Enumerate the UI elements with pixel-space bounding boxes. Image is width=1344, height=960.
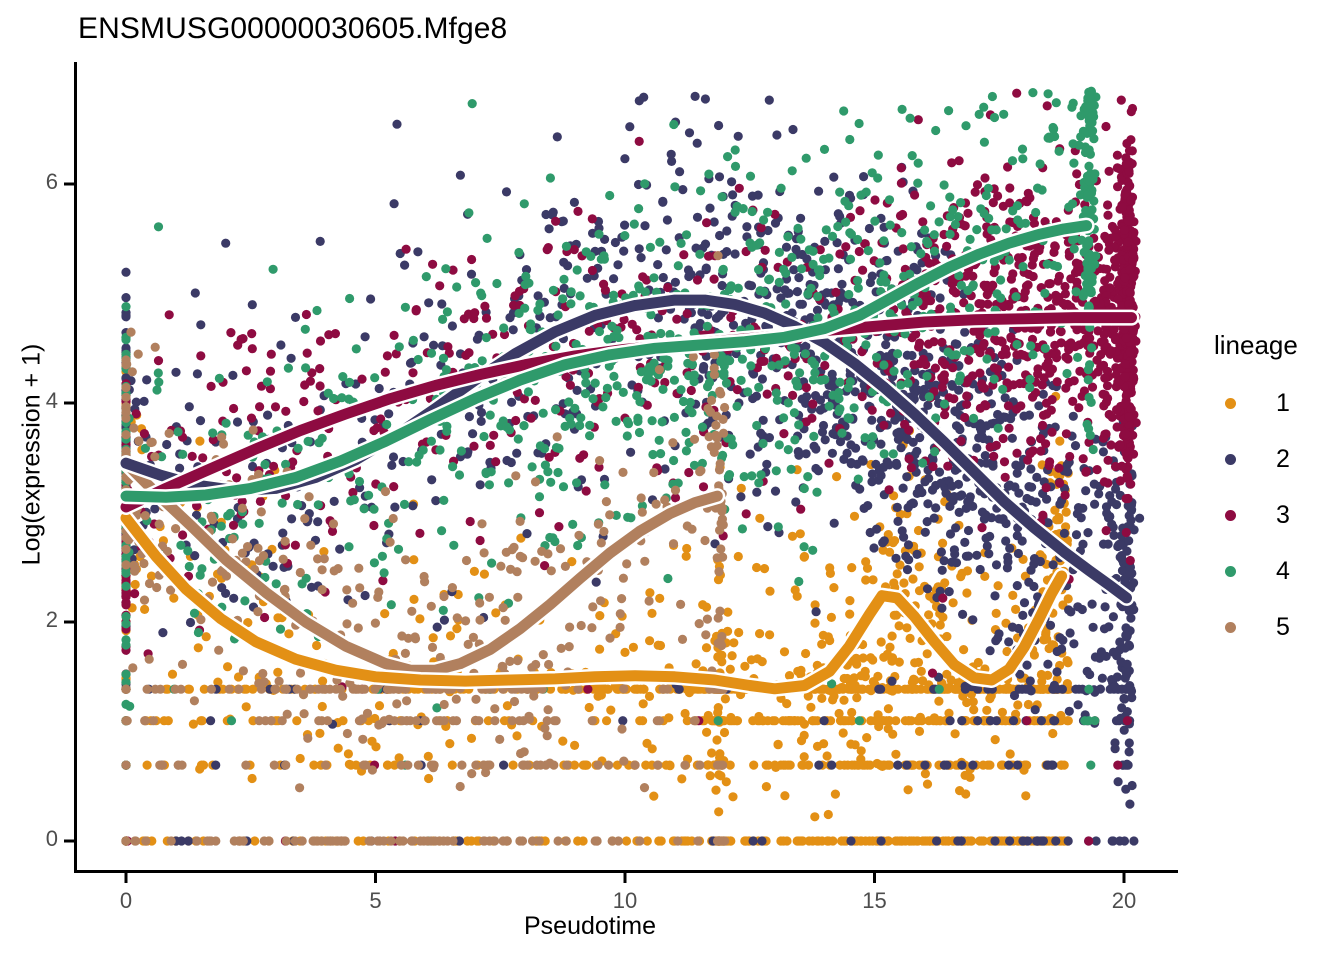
scatter-point	[381, 368, 390, 377]
scatter-point	[1099, 447, 1108, 456]
scatter-point	[238, 334, 247, 343]
scatter-point	[1099, 434, 1108, 443]
scatter-point	[248, 300, 257, 309]
scatter-point	[752, 563, 761, 572]
scatter-point	[865, 224, 874, 233]
scatter-point	[1012, 89, 1021, 98]
scatter-point	[413, 247, 422, 256]
scatter-point	[674, 261, 683, 270]
scatter-point	[367, 737, 376, 746]
scatter-point	[692, 659, 701, 668]
scatter-point	[142, 375, 151, 384]
scatter-point	[877, 471, 886, 480]
scatter-point	[1088, 600, 1097, 609]
scatter-point	[573, 836, 582, 845]
scatter-point	[1069, 159, 1078, 168]
scatter-point	[930, 247, 939, 256]
scatter-point	[1052, 515, 1061, 524]
scatter-point	[956, 437, 965, 446]
scatter-point	[979, 761, 988, 770]
scatter-point	[938, 539, 947, 548]
scatter-point	[793, 287, 802, 296]
scatter-point	[645, 692, 654, 701]
scatter-point	[360, 504, 369, 513]
scatter-point	[228, 371, 237, 380]
scatter-point	[931, 364, 940, 373]
scatter-point	[974, 658, 983, 667]
scatter-point	[162, 440, 171, 449]
scatter-point	[1102, 265, 1111, 274]
scatter-point	[747, 471, 756, 480]
scatter-point	[886, 409, 895, 418]
scatter-point	[579, 761, 588, 770]
scatter-point	[818, 836, 827, 845]
scatter-point	[946, 716, 955, 725]
scatter-point	[551, 405, 560, 414]
scatter-point	[315, 729, 324, 738]
scatter-point	[952, 558, 961, 567]
scatter-point	[366, 294, 375, 303]
scatter-point	[714, 575, 723, 584]
scatter-point	[1101, 122, 1110, 131]
scatter-point	[1091, 652, 1100, 661]
scatter-point	[965, 303, 974, 312]
scatter-point	[868, 406, 877, 415]
scatter-point	[771, 487, 780, 496]
scatter-point	[980, 339, 989, 348]
scatter-point	[885, 716, 894, 725]
scatter-point	[1055, 479, 1064, 488]
scatter-point	[899, 244, 908, 253]
scatter-point	[938, 566, 947, 575]
scatter-point	[802, 154, 811, 163]
scatter-point	[841, 242, 850, 251]
scatter-point	[1071, 441, 1080, 450]
scatter-point	[1001, 536, 1010, 545]
scatter-point	[215, 374, 224, 383]
scatter-point	[827, 761, 836, 770]
scatter-point	[808, 399, 817, 408]
scatter-point	[855, 119, 864, 128]
scatter-point	[936, 293, 945, 302]
scatter-point	[1118, 685, 1127, 694]
scatter-point	[852, 654, 861, 663]
scatter-point	[1112, 405, 1121, 414]
scatter-plot-canvas	[0, 0, 1344, 960]
scatter-point	[1117, 96, 1126, 105]
scatter-point	[1042, 409, 1051, 418]
scatter-point	[990, 591, 999, 600]
scatter-point	[658, 198, 667, 207]
scatter-point	[1061, 289, 1070, 298]
scatter-point	[765, 96, 774, 105]
scatter-point	[195, 437, 204, 446]
scatter-point	[435, 281, 444, 290]
scatter-point	[831, 288, 840, 297]
scatter-point	[623, 431, 632, 440]
scatter-point	[845, 610, 854, 619]
scatter-point	[1111, 335, 1120, 344]
scatter-point	[1126, 196, 1135, 205]
scatter-point	[1126, 516, 1135, 525]
scatter-point	[1100, 624, 1109, 633]
scatter-point	[437, 299, 446, 308]
scatter-point	[895, 621, 904, 630]
scatter-point	[121, 582, 130, 591]
scatter-point	[746, 450, 755, 459]
scatter-point	[878, 762, 887, 771]
scatter-point	[562, 242, 571, 251]
scatter-point	[838, 683, 847, 692]
scatter-point	[899, 484, 908, 493]
scatter-point	[900, 420, 909, 429]
scatter-point	[415, 614, 424, 623]
scatter-point	[659, 273, 668, 282]
scatter-point	[877, 836, 886, 845]
scatter-point	[999, 412, 1008, 421]
scatter-point	[217, 583, 226, 592]
scatter-point	[734, 628, 743, 637]
scatter-point	[1014, 549, 1023, 558]
scatter-point	[654, 641, 663, 650]
scatter-point	[828, 695, 837, 704]
scatter-point	[512, 731, 521, 740]
scatter-point	[1084, 162, 1093, 171]
scatter-point	[1037, 716, 1046, 725]
scatter-point	[606, 706, 615, 715]
scatter-point	[868, 168, 877, 177]
scatter-point	[992, 336, 1001, 345]
scatter-point	[1098, 674, 1107, 683]
scatter-point	[969, 705, 978, 714]
scatter-point	[1052, 294, 1061, 303]
scatter-point	[774, 740, 783, 749]
scatter-point	[868, 272, 877, 281]
scatter-point	[174, 427, 183, 436]
scatter-point	[888, 632, 897, 641]
scatter-point	[1103, 200, 1112, 209]
scatter-point	[940, 761, 949, 770]
scatter-point	[942, 242, 951, 251]
scatter-point	[1052, 667, 1061, 676]
scatter-point	[1012, 449, 1021, 458]
scatter-point	[158, 628, 167, 637]
scatter-point	[869, 543, 878, 552]
scatter-point	[1053, 377, 1062, 386]
scatter-point	[960, 538, 969, 547]
scatter-point	[704, 252, 713, 261]
scatter-point	[693, 275, 702, 284]
scatter-point	[714, 121, 723, 130]
scatter-point	[992, 560, 1001, 569]
scatter-point	[1008, 623, 1017, 632]
scatter-point	[932, 836, 941, 845]
scatter-point	[480, 570, 489, 579]
scatter-point	[370, 558, 379, 567]
scatter-point	[738, 524, 747, 533]
scatter-point	[1043, 761, 1052, 770]
scatter-point	[131, 580, 140, 589]
scatter-point	[912, 550, 921, 559]
scatter-point	[994, 581, 1003, 590]
scatter-point	[938, 383, 947, 392]
scatter-point	[1039, 836, 1048, 845]
scatter-point	[164, 716, 173, 725]
scatter-point	[982, 534, 991, 543]
scatter-point	[291, 541, 300, 550]
scatter-point	[1026, 676, 1035, 685]
scatter-point	[1109, 648, 1118, 657]
scatter-point	[852, 693, 861, 702]
scatter-point	[595, 645, 604, 654]
scatter-point	[977, 523, 986, 532]
scatter-point	[263, 411, 272, 420]
scatter-point	[502, 456, 511, 465]
scatter-point	[470, 567, 479, 576]
scatter-point	[918, 217, 927, 226]
scatter-point	[755, 514, 764, 523]
scatter-point	[793, 381, 802, 390]
scatter-point	[772, 466, 781, 475]
scatter-point	[904, 555, 913, 564]
scatter-point	[390, 503, 399, 512]
scatter-point	[923, 584, 932, 593]
scatter-point	[647, 609, 656, 618]
scatter-point	[198, 453, 207, 462]
scatter-point	[819, 685, 828, 694]
scatter-point	[409, 555, 418, 564]
scatter-point	[632, 325, 641, 334]
scatter-point	[1113, 163, 1122, 172]
scatter-point	[1063, 354, 1072, 363]
scatter-point	[907, 463, 916, 472]
plot-root: ENSMUSG00000030605.Mfge8 0246 05101520 P…	[0, 0, 1344, 960]
scatter-point	[1018, 836, 1027, 845]
scatter-point	[1057, 644, 1066, 653]
scatter-point	[976, 404, 985, 413]
scatter-point	[878, 538, 887, 547]
scatter-point	[291, 313, 300, 322]
scatter-point	[835, 188, 844, 197]
scatter-point	[427, 475, 436, 484]
scatter-point	[961, 789, 970, 798]
scatter-point	[940, 360, 949, 369]
scatter-point	[440, 616, 449, 625]
scatter-point	[895, 428, 904, 437]
scatter-point	[1004, 761, 1013, 770]
scatter-point	[1087, 343, 1096, 352]
scatter-point	[1122, 528, 1131, 537]
scatter-point	[581, 389, 590, 398]
scatter-point	[858, 685, 867, 694]
scatter-point	[1129, 326, 1138, 335]
scatter-point	[1129, 273, 1138, 282]
scatter-point	[1026, 464, 1035, 473]
scatter-point	[820, 237, 829, 246]
scatter-point	[1113, 182, 1122, 191]
scatter-point	[480, 302, 489, 311]
scatter-point	[1069, 639, 1078, 648]
scatter-point	[400, 261, 409, 270]
scatter-point	[734, 552, 743, 561]
scatter-point	[675, 167, 684, 176]
scatter-point	[477, 417, 486, 426]
scatter-point	[825, 402, 834, 411]
scatter-point	[858, 392, 867, 401]
scatter-point	[1113, 151, 1122, 160]
scatter-point	[837, 280, 846, 289]
scatter-point	[821, 435, 830, 444]
scatter-point	[1046, 279, 1055, 288]
scatter-point	[955, 508, 964, 517]
scatter-point	[1086, 761, 1095, 770]
scatter-point	[522, 529, 531, 538]
scatter-point	[1046, 327, 1055, 336]
scatter-point	[1011, 605, 1020, 614]
scatter-point	[1021, 791, 1030, 800]
scatter-point	[754, 712, 763, 721]
scatter-point	[1109, 531, 1118, 540]
scatter-point	[1065, 378, 1074, 387]
scatter-point	[1111, 462, 1120, 471]
scatter-point	[905, 454, 914, 463]
scatter-point	[1004, 401, 1013, 410]
scatter-point	[609, 372, 618, 381]
scatter-point	[1122, 139, 1131, 148]
scatter-point	[962, 391, 971, 400]
scatter-point	[1126, 480, 1135, 489]
scatter-point	[992, 441, 1001, 450]
scatter-point	[780, 791, 789, 800]
scatter-point	[897, 179, 906, 188]
scatter-point	[1107, 497, 1116, 506]
scatter-point	[641, 761, 650, 770]
scatter-point	[1008, 269, 1017, 278]
scatter-point	[456, 171, 465, 180]
scatter-point	[346, 496, 355, 505]
scatter-point	[559, 258, 568, 267]
scatter-point	[898, 210, 907, 219]
scatter-point	[855, 206, 864, 215]
scatter-point	[834, 264, 843, 273]
scatter-point	[1073, 353, 1082, 362]
scatter-point	[930, 713, 939, 722]
scatter-point	[509, 325, 518, 334]
scatter-point	[870, 195, 879, 204]
scatter-point	[1062, 507, 1071, 516]
scatter-point	[720, 728, 729, 737]
scatter-point	[596, 685, 605, 694]
scatter-point	[726, 665, 735, 674]
scatter-point	[658, 385, 667, 394]
scatter-point	[1093, 465, 1102, 474]
scatter-point	[800, 720, 809, 729]
scatter-point	[278, 499, 287, 508]
scatter-point	[729, 638, 738, 647]
scatter-point	[121, 311, 130, 320]
scatter-point	[776, 836, 785, 845]
scatter-point	[827, 613, 836, 622]
scatter-point	[794, 273, 803, 282]
scatter-point	[140, 397, 149, 406]
scatter-point	[913, 386, 922, 395]
scatter-point	[829, 173, 838, 182]
scatter-point	[937, 547, 946, 556]
scatter-point	[791, 585, 800, 594]
scatter-point	[514, 248, 523, 257]
scatter-point	[640, 221, 649, 230]
scatter-point	[603, 335, 612, 344]
scatter-point	[553, 132, 562, 141]
scatter-point	[711, 786, 720, 795]
scatter-point	[667, 150, 676, 159]
scatter-point	[828, 449, 837, 458]
scatter-point	[307, 583, 316, 592]
scatter-point	[1077, 513, 1086, 522]
scatter-point	[788, 125, 797, 134]
scatter-point	[1113, 672, 1122, 681]
scatter-point	[1063, 467, 1072, 476]
scatter-point	[1005, 424, 1014, 433]
scatter-point	[248, 774, 257, 783]
scatter-point	[361, 591, 370, 600]
scatter-point	[867, 416, 876, 425]
scatter-point	[814, 466, 823, 475]
scatter-point	[229, 404, 238, 413]
scatter-point	[961, 685, 970, 694]
scatter-point	[682, 544, 691, 553]
scatter-point	[315, 364, 324, 373]
scatter-point	[990, 113, 999, 122]
scatter-point	[909, 499, 918, 508]
scatter-point	[130, 589, 139, 598]
scatter-point	[986, 646, 995, 655]
scatter-point	[940, 556, 949, 565]
scatter-point	[781, 761, 790, 770]
scatter-point	[357, 375, 366, 384]
scatter-point	[980, 173, 989, 182]
scatter-point	[915, 727, 924, 736]
scatter-point	[980, 138, 989, 147]
scatter-point	[726, 313, 735, 322]
scatter-point	[186, 618, 195, 627]
scatter-point	[629, 643, 638, 652]
scatter-point	[603, 384, 612, 393]
scatter-point	[635, 96, 644, 105]
scatter-point	[962, 588, 971, 597]
scatter-point	[193, 369, 202, 378]
scatter-point	[934, 697, 943, 706]
scatter-point	[879, 421, 888, 430]
scatter-point	[1026, 436, 1035, 445]
scatter-point	[601, 286, 610, 295]
scatter-point	[917, 716, 926, 725]
scatter-point	[625, 122, 634, 131]
scatter-point	[408, 501, 417, 510]
scatter-point	[154, 356, 163, 365]
scatter-point	[990, 363, 999, 372]
scatter-point	[1121, 785, 1130, 794]
scatter-point	[740, 662, 749, 671]
scatter-point	[1057, 761, 1066, 770]
scatter-point	[515, 309, 524, 318]
scatter-point	[1114, 777, 1123, 786]
scatter-point	[1100, 477, 1109, 486]
scatter-point	[854, 761, 863, 770]
scatter-point	[1054, 464, 1063, 473]
scatter-point	[433, 623, 442, 632]
scatter-point	[276, 625, 285, 634]
